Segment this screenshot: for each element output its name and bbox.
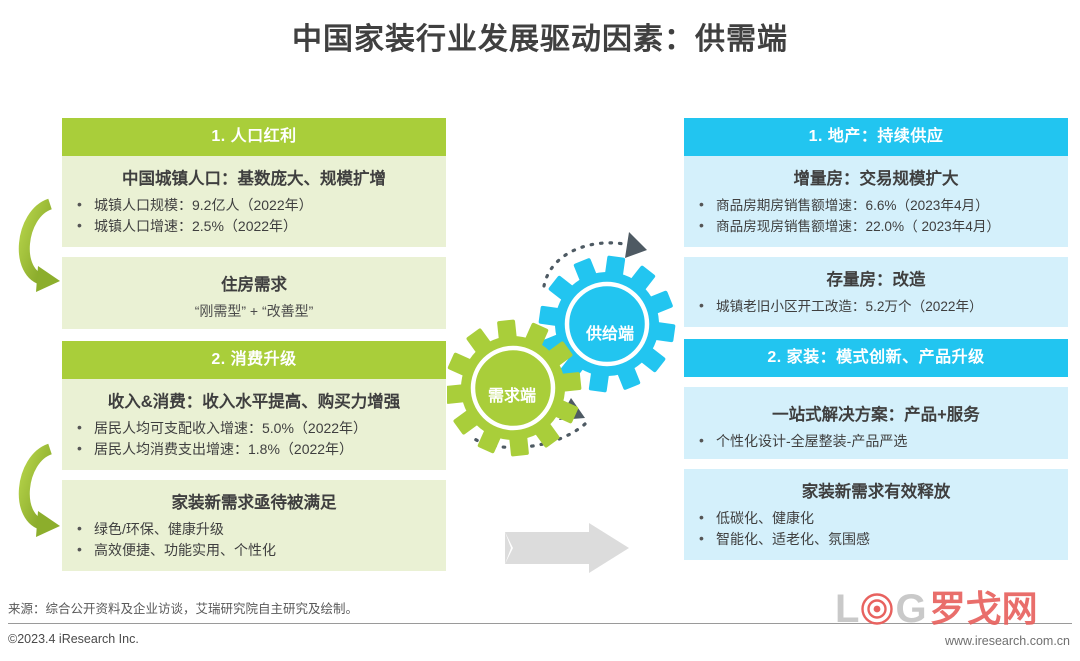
spacer xyxy=(684,377,1068,387)
spacer xyxy=(684,247,1068,257)
page-title: 中国家装行业发展驱动因素：供需端 xyxy=(0,14,1080,58)
block-title: 家装新需求亟待被满足 xyxy=(72,489,436,513)
list-item: 智能化、适老化、氛围感 xyxy=(694,529,1058,550)
bullet-list: 城镇老旧小区开工改造：5.2万个（2022年） xyxy=(694,296,1058,317)
watermark-letter-l: L xyxy=(835,589,859,629)
list-item: 城镇人口规模：9.2亿人（2022年） xyxy=(72,195,436,216)
list-item: 商品房期房销售额增速：6.6%（2023年4月） xyxy=(694,195,1058,216)
website-url: www.iresearch.com.cn xyxy=(945,634,1070,648)
left-group-2-block-2: 家装新需求亟待被满足 绿色/环保、健康升级 高效便捷、功能实用、个性化 xyxy=(62,480,446,571)
spacer xyxy=(684,459,1068,469)
block-title: 增量房：交易规模扩大 xyxy=(694,165,1058,189)
block-title: 一站式解决方案：产品+服务 xyxy=(694,401,1058,425)
left-group-1-block-2: 住房需求 “刚需型” + “改善型” xyxy=(62,257,446,329)
block-subtitle: “刚需型” + “改善型” xyxy=(72,301,436,321)
block-title: 住房需求 xyxy=(72,271,436,295)
right-group-1-block-2: 存量房：改造 城镇老旧小区开工改造：5.2万个（2022年） xyxy=(684,257,1068,327)
bullet-list: 绿色/环保、健康升级 高效便捷、功能实用、个性化 xyxy=(72,519,436,561)
list-item: 居民人均消费支出增速：1.8%（2022年） xyxy=(72,439,436,460)
spacer xyxy=(684,327,1068,339)
watermark-logo: L G 罗戈网 xyxy=(835,588,1073,630)
list-item: 绿色/环保、健康升级 xyxy=(72,519,436,540)
right-group-2-header: 2. 家装：模式创新、产品升级 xyxy=(684,339,1068,377)
right-group-1-header: 1. 地产：持续供应 xyxy=(684,118,1068,156)
list-item: 城镇人口增速：2.5%（2022年） xyxy=(72,216,436,237)
bullet-list: 低碳化、健康化 智能化、适老化、氛围感 xyxy=(694,508,1058,550)
block-title: 存量房：改造 xyxy=(694,266,1058,290)
watermark-chinese-name: 罗戈网 xyxy=(930,591,1038,627)
spacer xyxy=(62,247,446,257)
list-item: 商品房现房销售额增速：22.0%（ 2023年4月） xyxy=(694,216,1058,237)
right-column-supply-side: 1. 地产：持续供应 增量房：交易规模扩大 商品房期房销售额增速：6.6%（20… xyxy=(684,118,1068,560)
right-arrow-icon xyxy=(505,523,629,573)
slide-canvas: 中国家装行业发展驱动因素：供需端 1. 人口红利 中国城镇人口：基数庞大、规模扩… xyxy=(0,0,1080,661)
block-title: 中国城镇人口：基数庞大、规模扩增 xyxy=(72,165,436,189)
left-group-1-header: 1. 人口红利 xyxy=(62,118,446,156)
list-item: 高效便捷、功能实用、个性化 xyxy=(72,540,436,561)
list-item: 居民人均可支配收入增速：5.0%（2022年） xyxy=(72,418,436,439)
spacer xyxy=(62,470,446,480)
curved-arrow-icon xyxy=(10,443,68,539)
demand-gear-label: 需求端 xyxy=(469,382,555,406)
right-group-1-block-1: 增量房：交易规模扩大 商品房期房销售额增速：6.6%（2023年4月） 商品房现… xyxy=(684,156,1068,247)
left-group-1-block-1: 中国城镇人口：基数庞大、规模扩增 城镇人口规模：9.2亿人（2022年） 城镇人… xyxy=(62,156,446,247)
supply-demand-gears-graphic: 供给端 需求端 xyxy=(447,228,683,464)
copyright-text: ©2023.4 iResearch Inc. xyxy=(8,632,139,646)
spacer xyxy=(62,329,446,341)
list-item: 低碳化、健康化 xyxy=(694,508,1058,529)
block-title: 家装新需求有效释放 xyxy=(694,478,1058,502)
source-note: 来源：综合公开资料及企业访谈，艾瑞研究院自主研究及绘制。 xyxy=(8,598,358,617)
bullet-list: 城镇人口规模：9.2亿人（2022年） 城镇人口增速：2.5%（2022年） xyxy=(72,195,436,237)
left-group-2-block-1: 收入&消费：收入水平提高、购买力增强 居民人均可支配收入增速：5.0%（2022… xyxy=(62,379,446,470)
list-item: 城镇老旧小区开工改造：5.2万个（2022年） xyxy=(694,296,1058,317)
watermark-letter-g: G xyxy=(895,589,926,629)
block-title: 收入&消费：收入水平提高、购买力增强 xyxy=(72,388,436,412)
curved-arrow-icon xyxy=(10,198,68,294)
list-item: 个性化设计-全屋整装-产品严选 xyxy=(694,431,1058,452)
right-group-2-block-2: 家装新需求有效释放 低碳化、健康化 智能化、适老化、氛围感 xyxy=(684,469,1068,560)
left-column-demand-side: 1. 人口红利 中国城镇人口：基数庞大、规模扩增 城镇人口规模：9.2亿人（20… xyxy=(62,118,446,571)
target-icon xyxy=(860,592,894,626)
left-group-2-header: 2. 消费升级 xyxy=(62,341,446,379)
bullet-list: 个性化设计-全屋整装-产品严选 xyxy=(694,431,1058,452)
bullet-list: 商品房期房销售额增速：6.6%（2023年4月） 商品房现房销售额增速：22.0… xyxy=(694,195,1058,237)
supply-gear-label: 供给端 xyxy=(567,320,653,344)
right-group-2-block-1: 一站式解决方案：产品+服务 个性化设计-全屋整装-产品严选 xyxy=(684,387,1068,459)
bullet-list: 居民人均可支配收入增速：5.0%（2022年） 居民人均消费支出增速：1.8%（… xyxy=(72,418,436,460)
